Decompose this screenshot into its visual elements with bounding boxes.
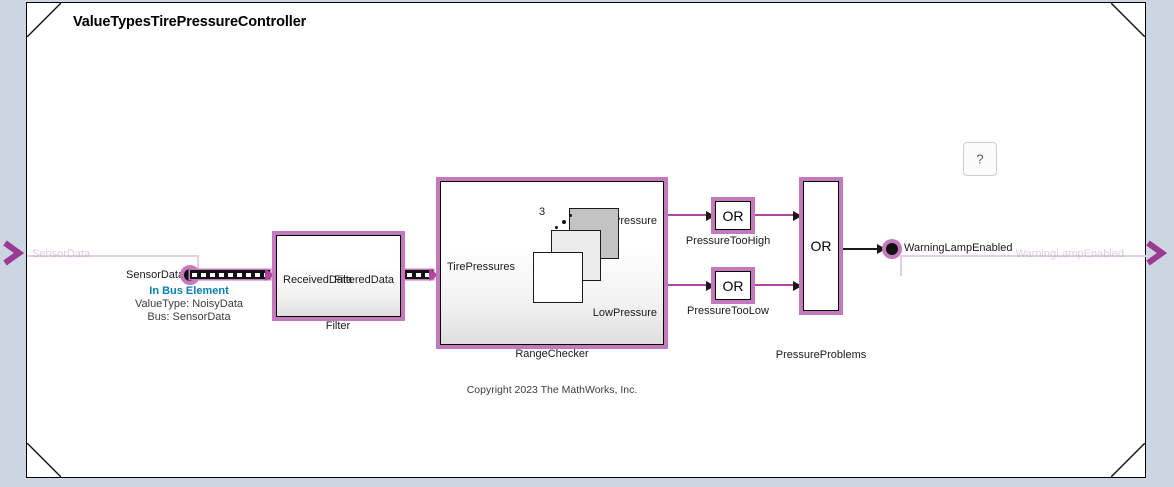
foreach-dot-2-icon (562, 220, 566, 224)
block-filter[interactable]: ReceivedData FilteredData (272, 231, 405, 321)
canvas-corner-bottom-left (27, 443, 61, 477)
in-bus-element-port-label: SensorData (126, 269, 184, 281)
input-edge-port-label: SensorData (32, 248, 90, 260)
pressureproblems-operator: OR (811, 238, 832, 254)
block-filter-name: Filter (326, 320, 350, 332)
copyright-text: Copyright 2023 The MathWorks, Inc. (467, 384, 638, 396)
block-pressureproblems-name: PressureProblems (776, 349, 866, 361)
filter-outport-label: FilteredData (334, 274, 394, 286)
block-pressuretoolow[interactable]: OR (711, 267, 755, 304)
block-filter-body: ReceivedData FilteredData (276, 235, 401, 317)
block-rangechecker-name: RangeChecker (515, 348, 588, 360)
canvas-corner-bottom-right (1111, 443, 1145, 477)
canvas-corner-top-right (1111, 3, 1145, 37)
model-canvas[interactable]: ValueTypesTirePressureController SensorD… (26, 2, 1146, 478)
block-pressuretoolow-name: PressureTooLow (687, 305, 769, 317)
edge-input-chevron-right-icon[interactable] (2, 239, 30, 272)
block-pressuretoohigh-body: OR (715, 201, 751, 230)
foreach-iteration-count: 3 (539, 206, 545, 218)
pressuretoohigh-operator: OR (723, 208, 744, 224)
help-button[interactable]: ? (963, 142, 997, 176)
block-pressuretoolow-body: OR (715, 271, 751, 300)
pressuretoolow-operator: OR (723, 278, 744, 294)
out-bus-element-port[interactable] (882, 239, 902, 259)
block-rangechecker[interactable]: TirePressures HighPressure LowPressure 3 (436, 177, 668, 349)
foreach-dot-3-icon (569, 214, 572, 217)
canvas-corner-top-left (27, 3, 61, 37)
output-edge-route-rise (900, 255, 902, 276)
block-pressuretoohigh[interactable]: OR (711, 197, 755, 234)
block-pressureproblems[interactable]: OR (799, 177, 843, 315)
question-mark-icon: ? (976, 152, 983, 167)
in-bus-element-bus-label: Bus: SensorData (147, 311, 230, 323)
rangechecker-inport-label: TirePressures (447, 261, 515, 273)
bus-signal-sensordata[interactable] (190, 270, 270, 279)
foreach-dot-1-icon (555, 226, 558, 229)
out-bus-element-port-label: WarningLampEnabled (904, 242, 1012, 254)
block-rangechecker-body: TirePressures HighPressure LowPressure 3 (440, 181, 664, 345)
in-bus-element-kind-label: In Bus Element (149, 285, 228, 297)
in-bus-element-valuetype-label: ValueType: NoisyData (135, 298, 243, 310)
edge-output-chevron-right-icon[interactable] (1145, 239, 1173, 272)
block-pressureproblems-body: OR (803, 181, 839, 311)
simulink-model-window: ValueTypesTirePressureController SensorD… (0, 0, 1174, 487)
block-pressuretoohigh-name: PressureTooHigh (686, 235, 770, 247)
model-title: ValueTypesTirePressureController (73, 14, 306, 30)
rangechecker-outport-lowpressure-label: LowPressure (593, 307, 657, 319)
foreach-sheet-front-icon (533, 252, 583, 303)
output-edge-port-label: WarningLampEnabled (1016, 248, 1124, 260)
